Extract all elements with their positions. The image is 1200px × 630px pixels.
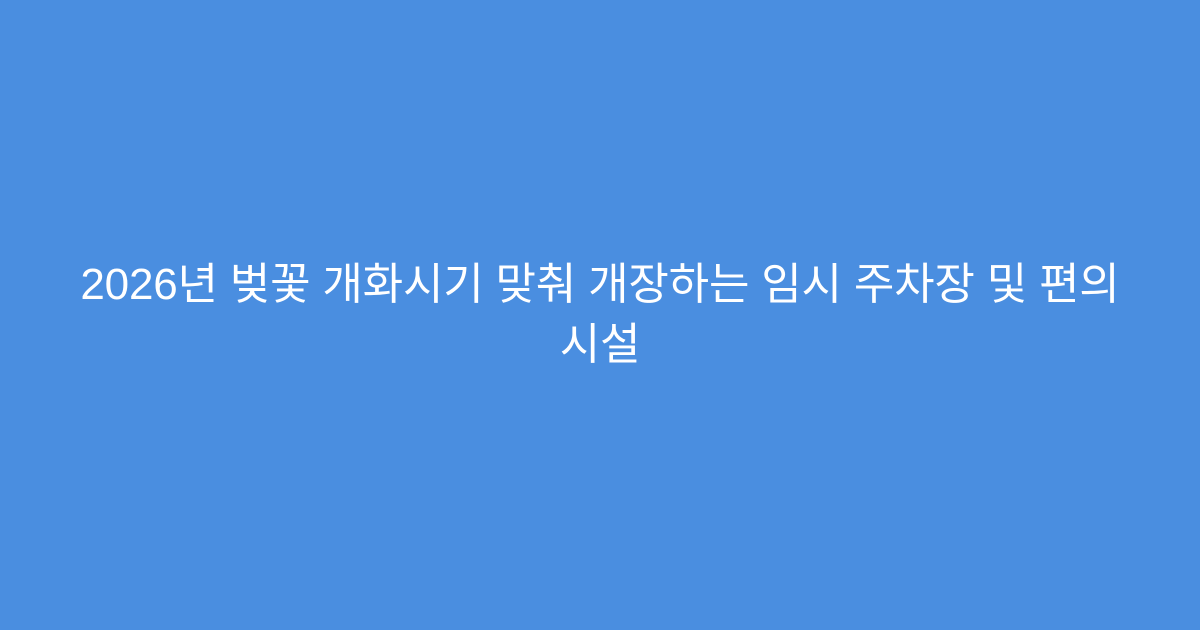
og-card: 2026년 벚꽃 개화시기 맞춰 개장하는 임시 주차장 및 편의 시설 bbox=[0, 0, 1200, 630]
title-block: 2026년 벚꽃 개화시기 맞춰 개장하는 임시 주차장 및 편의 시설 bbox=[72, 255, 1128, 375]
page-title: 2026년 벚꽃 개화시기 맞춰 개장하는 임시 주차장 및 편의 시설 bbox=[72, 255, 1128, 375]
